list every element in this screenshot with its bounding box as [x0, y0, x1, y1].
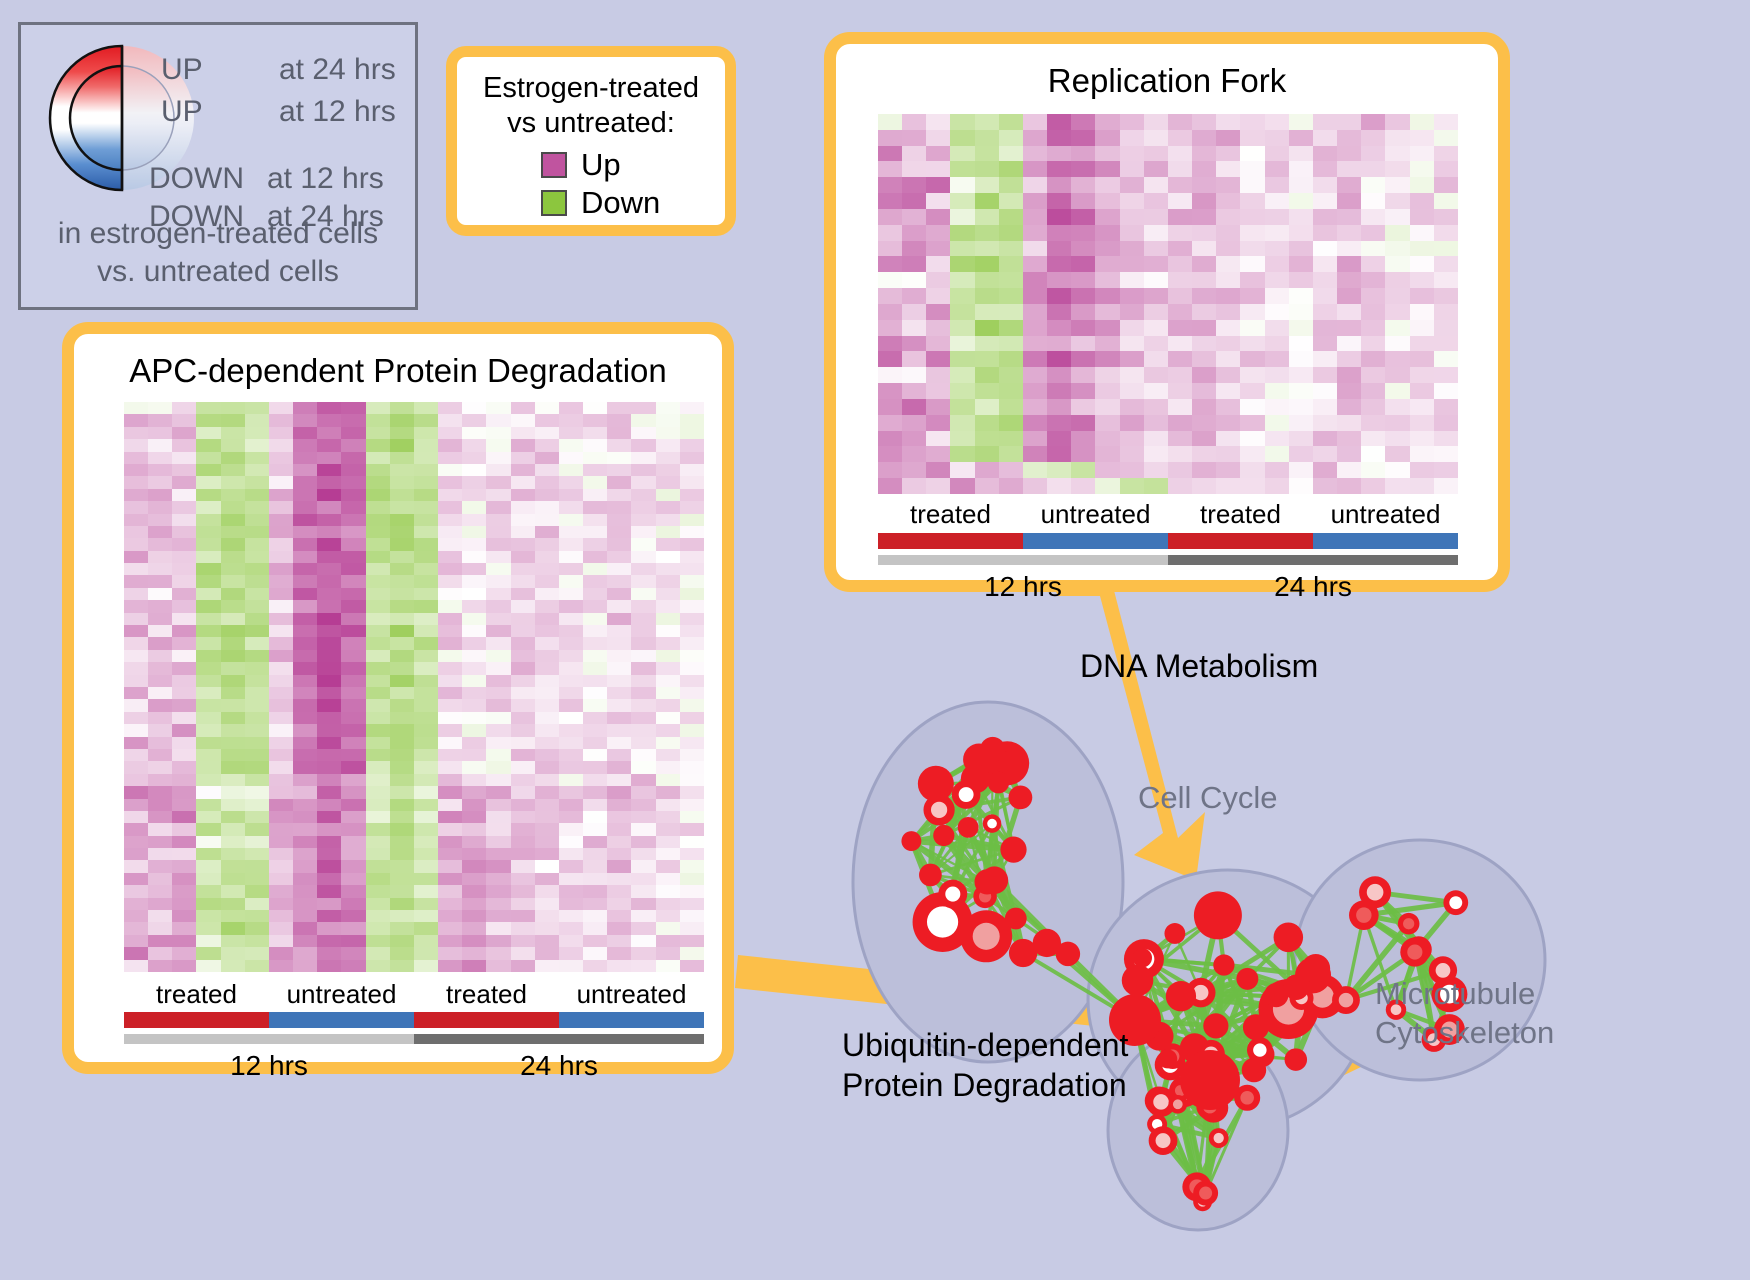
heatmap-cell [607, 836, 631, 848]
heatmap-cell [172, 489, 196, 501]
heatmap-cell [999, 462, 1023, 478]
heatmap-cell [172, 786, 196, 798]
heatmap-cell [1120, 320, 1144, 336]
heatmap-cell [1168, 478, 1192, 494]
heatmap-cell [1120, 446, 1144, 462]
network-node [923, 794, 954, 825]
heatmap-cell [366, 538, 390, 550]
heatmap-cell [1337, 462, 1361, 478]
heatmap-cell [680, 452, 704, 464]
heatmap-cell [341, 452, 365, 464]
heatmap-cell [269, 514, 293, 526]
heatmap-cell [1265, 399, 1289, 415]
heatmap-cell [196, 774, 220, 786]
heatmap-cell [1410, 193, 1434, 209]
heatmap-cell [680, 848, 704, 860]
heatmap-cell [1361, 336, 1385, 352]
heatmap-cell [1168, 177, 1192, 193]
heatmap-cell [196, 836, 220, 848]
heatmap-cell [196, 737, 220, 749]
heatmap-cell [535, 898, 559, 910]
heatmap-cell [607, 749, 631, 761]
heatmap-cell [631, 625, 655, 637]
heatmap-cell [1410, 288, 1434, 304]
heatmap-cell [559, 724, 583, 736]
heatmap-cell [245, 860, 269, 872]
heatmap-cell [535, 489, 559, 501]
heatmap-cell [656, 687, 680, 699]
heatmap-cell [559, 947, 583, 959]
heatmap-cell [1265, 130, 1289, 146]
heatmap-cell [631, 873, 655, 885]
heatmap-cell [1434, 399, 1458, 415]
heatmap-cell [245, 935, 269, 947]
heatmap-cell [293, 712, 317, 724]
heatmap-cell [414, 873, 438, 885]
heatmap-cell [583, 935, 607, 947]
heatmap-cell [926, 256, 950, 272]
heatmap-cell [390, 712, 414, 724]
heatmap-cell [438, 538, 462, 550]
heatmap-cell [172, 402, 196, 414]
heatmap-cell [535, 774, 559, 786]
heatmap-cell [486, 848, 510, 860]
network-node [988, 772, 1010, 794]
heatmap-cell [1168, 383, 1192, 399]
heatmap-cell [656, 625, 680, 637]
heatmap-cell [462, 526, 486, 538]
heatmap-cell [559, 922, 583, 934]
heatmap-cell [269, 625, 293, 637]
heatmap-cell [390, 947, 414, 959]
network-node [1000, 836, 1026, 862]
heatmap-cell [583, 910, 607, 922]
heatmap-cell [950, 431, 974, 447]
heatmap-cell [148, 786, 172, 798]
heatmap-cell [680, 427, 704, 439]
heatmap-cell [341, 637, 365, 649]
cluster-label-cell-cycle: Cell Cycle [1138, 780, 1278, 816]
heatmap-cell [438, 526, 462, 538]
heatmap-cell [414, 947, 438, 959]
heatmap-cell [366, 749, 390, 761]
heatmap-cell [511, 724, 535, 736]
heatmap-cell [245, 575, 269, 587]
heatmap-cell [462, 514, 486, 526]
heatmap-cell [124, 799, 148, 811]
heatmap-cell [902, 161, 926, 177]
heatmap-cell [438, 452, 462, 464]
heatmap-cell [1361, 415, 1385, 431]
heatmap-cell [1337, 431, 1361, 447]
network-node [1285, 1048, 1307, 1070]
heatmap-cell [124, 898, 148, 910]
heatmap-cell [559, 563, 583, 575]
heatmap-cell [1095, 209, 1119, 225]
heatmap-cell [221, 575, 245, 587]
heatmap-cell [414, 414, 438, 426]
network-node [1398, 913, 1420, 935]
heatmap-cell [462, 873, 486, 885]
heatmap-cell [341, 625, 365, 637]
heatmap-cell [1265, 304, 1289, 320]
heatmap-cell [317, 625, 341, 637]
heatmap-cell [1120, 383, 1144, 399]
heatmap-cell [926, 446, 950, 462]
heatmap-cell [221, 749, 245, 761]
heatmap-cell [926, 114, 950, 130]
heatmap-cell [1361, 431, 1385, 447]
group-labels-apc: treated untreated treated untreated [124, 979, 704, 1010]
heatmap-cell [631, 675, 655, 687]
heatmap-cell [172, 799, 196, 811]
heatmap-cell [221, 600, 245, 612]
heatmap-cell [878, 478, 902, 494]
heatmap-cell [172, 848, 196, 860]
heatmap-cell [511, 625, 535, 637]
heatmap-cell [414, 960, 438, 972]
heatmap-cell [607, 427, 631, 439]
heatmap-cell [559, 737, 583, 749]
heatmap-cell [486, 786, 510, 798]
heatmap-cell [680, 811, 704, 823]
heatmap-cell [462, 427, 486, 439]
heatmap-cell [1023, 225, 1047, 241]
heatmap-cell [293, 910, 317, 922]
heatmap-cell [414, 737, 438, 749]
heatmap-cell [390, 402, 414, 414]
heatmap-cell [1216, 367, 1240, 383]
heatmap-cell [583, 712, 607, 724]
heatmap-cell [535, 749, 559, 761]
heatmap-cell [631, 439, 655, 451]
heatmap-cell [124, 860, 148, 872]
heatmap-cell [438, 786, 462, 798]
heatmap-cell [390, 588, 414, 600]
heatmap-cell [926, 367, 950, 383]
heatmap-cell [975, 383, 999, 399]
heatmap-cell [926, 209, 950, 225]
heatmap-cell [1071, 177, 1095, 193]
heatmap-cell [583, 799, 607, 811]
heatmap-cell [1385, 367, 1409, 383]
heatmap-cell [511, 613, 535, 625]
heatmap-cell [124, 501, 148, 513]
heatmap-cell [269, 860, 293, 872]
heatmap-cell [607, 910, 631, 922]
heatmap-cell [293, 737, 317, 749]
heatmap-cell [1216, 383, 1240, 399]
heatmap-cell [414, 476, 438, 488]
heatmap-cell [999, 225, 1023, 241]
heatmap-cell [269, 687, 293, 699]
heatmap-cell [341, 749, 365, 761]
heatmap-cell [124, 476, 148, 488]
heatmap-cell [124, 613, 148, 625]
heatmap-cell [535, 588, 559, 600]
heatmap-cell [656, 898, 680, 910]
heatmap-cell [245, 774, 269, 786]
heatmap-cell [1337, 367, 1361, 383]
heatmap-cell [1192, 241, 1216, 257]
heatmap-cell [680, 749, 704, 761]
heatmap-cell [975, 193, 999, 209]
heatmap-cell [631, 600, 655, 612]
heatmap-cell [341, 464, 365, 476]
heatmap-cell [1095, 320, 1119, 336]
heatmap-cell [366, 514, 390, 526]
heatmap-cell [1410, 367, 1434, 383]
heatmap-cell [438, 637, 462, 649]
heatmap-cell [1120, 177, 1144, 193]
heatmap-cell [511, 637, 535, 649]
heatmap-cell [878, 446, 902, 462]
heatmap-cell [1144, 161, 1168, 177]
heatmap-cell [511, 712, 535, 724]
heatmap-cell [902, 383, 926, 399]
heatmap-cell [1168, 114, 1192, 130]
network-node [1005, 908, 1027, 930]
heatmap-cell [631, 538, 655, 550]
heatmap-cell [269, 960, 293, 972]
network-node [1168, 1095, 1187, 1114]
heatmap-cell [341, 922, 365, 934]
heatmap-cell [245, 811, 269, 823]
heatmap-cell [486, 699, 510, 711]
heatmap-cell [1095, 478, 1119, 494]
heatmap-cell [293, 662, 317, 674]
heatmap-cell [1410, 241, 1434, 257]
heatmap-cell [511, 786, 535, 798]
heatmap-cell [1313, 177, 1337, 193]
heatmap-cell [1120, 256, 1144, 272]
heatmap-cell [511, 737, 535, 749]
heatmap-cell [462, 922, 486, 934]
heatmap-cell [148, 873, 172, 885]
heatmap-cell [999, 320, 1023, 336]
heatmap-cell [656, 551, 680, 563]
heatmap-cell [1337, 130, 1361, 146]
heatmap-cell [293, 799, 317, 811]
network-node [1332, 986, 1360, 1014]
heatmap-cell [196, 439, 220, 451]
heatmap-cell [656, 464, 680, 476]
heatmap-cell [245, 526, 269, 538]
heatmap-cell [1192, 225, 1216, 241]
heatmap-cell [293, 464, 317, 476]
heatmap-cell [390, 464, 414, 476]
heatmap-cell [583, 452, 607, 464]
heatmap-cell [221, 737, 245, 749]
heatmap-cell [196, 811, 220, 823]
heatmap-cell [950, 161, 974, 177]
heatmap-cell [1240, 225, 1264, 241]
heatmap-cell [124, 514, 148, 526]
heatmap-cell [559, 613, 583, 625]
heatmap-cell [950, 177, 974, 193]
heatmap-cell [1434, 146, 1458, 162]
heatmap-cell [1047, 114, 1071, 130]
heatmap-cell [269, 749, 293, 761]
heatmap-cell [1095, 304, 1119, 320]
heatmap-cell [631, 885, 655, 897]
heatmap-cell [902, 478, 926, 494]
heatmap-cell [1095, 193, 1119, 209]
heatmap-cell [462, 538, 486, 550]
heatmap-cell [172, 699, 196, 711]
heatmap-cell [366, 960, 390, 972]
heatmap-cell [366, 724, 390, 736]
heatmap-cell [656, 848, 680, 860]
heatmap-cell [172, 526, 196, 538]
heatmap-cell [535, 885, 559, 897]
heatmap-cell [631, 476, 655, 488]
heatmap-cell [245, 749, 269, 761]
heatmap-cell [1071, 130, 1095, 146]
heatmap-cell [1361, 130, 1385, 146]
heatmap-cell [341, 737, 365, 749]
heatmap-cell [559, 935, 583, 947]
heatmap-cell [1385, 336, 1409, 352]
heatmap-cell [1216, 304, 1240, 320]
heatmap-cell [1385, 256, 1409, 272]
heatmap-cell [148, 514, 172, 526]
heatmap-cell [366, 650, 390, 662]
heatmap-cell [486, 960, 510, 972]
heatmap-cell [559, 501, 583, 513]
heatmap-cell [462, 600, 486, 612]
heatmap-cell [1095, 399, 1119, 415]
heatmap-cell [902, 193, 926, 209]
heatmap-cell [341, 811, 365, 823]
heatmap-cell [196, 538, 220, 550]
heatmap-cell [656, 712, 680, 724]
heatmap-cell [631, 947, 655, 959]
heatmap-cell [631, 749, 655, 761]
heatmap-cell [462, 848, 486, 860]
heatmap-cell [462, 699, 486, 711]
heatmap-cell [631, 737, 655, 749]
heatmap-cell [583, 588, 607, 600]
heatmap-cell [1023, 462, 1047, 478]
network-node [958, 817, 979, 838]
bar-untreated-12 [1023, 533, 1168, 549]
heatmap-cell [1095, 161, 1119, 177]
heatmap-cell [902, 415, 926, 431]
heatmap-cell [341, 687, 365, 699]
heatmap-cell [390, 514, 414, 526]
heatmap-cell [656, 588, 680, 600]
heatmap-cell [390, 662, 414, 674]
heatmap-cell [221, 910, 245, 922]
heatmap-cell [1240, 415, 1264, 431]
heatmap-cell [1434, 351, 1458, 367]
heatmap-cell [486, 836, 510, 848]
heatmap-cell [607, 687, 631, 699]
heatmap-cell [631, 699, 655, 711]
heatmap-cell [366, 774, 390, 786]
panel-replication-fork: Replication Fork treated untreated treat… [824, 32, 1510, 592]
heatmap-cell [1216, 320, 1240, 336]
heatmap-cell [462, 613, 486, 625]
treatment-bar-replication-fork [878, 533, 1458, 549]
heatmap-cell [124, 439, 148, 451]
heatmap-cell [390, 749, 414, 761]
heatmap-cell [269, 885, 293, 897]
heatmap-cell [975, 304, 999, 320]
heatmap-cell [1047, 478, 1071, 494]
heatmap-cell [656, 514, 680, 526]
heatmap-cell [414, 613, 438, 625]
heatmap-cell [414, 811, 438, 823]
heatmap-cell [1047, 193, 1071, 209]
heatmap-cell [1120, 304, 1144, 320]
heatmap-cell [656, 402, 680, 414]
heatmap-cell [486, 452, 510, 464]
heatmap-cell [462, 414, 486, 426]
heatmap-cell [172, 687, 196, 699]
heatmap-cell [1289, 462, 1313, 478]
heatmap-cell [172, 885, 196, 897]
heatmap-cell [680, 489, 704, 501]
heatmap-cell [1337, 146, 1361, 162]
time-bar-apc [124, 1034, 704, 1044]
heatmap-cell [656, 749, 680, 761]
heatmap-cell [148, 476, 172, 488]
heatmap-cell [1240, 462, 1264, 478]
heatmap-cell [631, 402, 655, 414]
heatmap-cell [1144, 146, 1168, 162]
heatmap-cell [1385, 478, 1409, 494]
heatmap-cell [438, 836, 462, 848]
heatmap-cell [680, 575, 704, 587]
heatmap-cell [535, 761, 559, 773]
heatmap-cell [902, 272, 926, 288]
heatmap-cell [245, 699, 269, 711]
heatmap-cell [317, 836, 341, 848]
heatmap-cell [317, 898, 341, 910]
heatmap-cell [1289, 415, 1313, 431]
heatmap-cell [975, 431, 999, 447]
heatmap-cell [535, 737, 559, 749]
heatmap-cell [245, 922, 269, 934]
heatmap-cell [269, 464, 293, 476]
heatmap-cell [245, 873, 269, 885]
heatmap-cell [1216, 241, 1240, 257]
heatmap-cell [196, 526, 220, 538]
heatmap-cell [486, 935, 510, 947]
heatmap-cell [462, 774, 486, 786]
heatmap-cell [1071, 367, 1095, 383]
heatmap-cell [148, 613, 172, 625]
heatmap-cell [245, 675, 269, 687]
heatmap-cell [1313, 241, 1337, 257]
heatmap-cell [486, 637, 510, 649]
heatmap-cell [656, 922, 680, 934]
heatmap-cell [878, 130, 902, 146]
heatmap-cell [975, 399, 999, 415]
heatmap-cell [148, 823, 172, 835]
heatmap-cell [1265, 272, 1289, 288]
bar-treated-12 [124, 1012, 269, 1028]
heatmap-cell [390, 873, 414, 885]
heatmap-cell [631, 960, 655, 972]
heatmap-cell [366, 848, 390, 860]
heatmap-cell [559, 526, 583, 538]
heatmap-cell [975, 114, 999, 130]
heatmap-cell [656, 960, 680, 972]
heatmap-cell [124, 452, 148, 464]
